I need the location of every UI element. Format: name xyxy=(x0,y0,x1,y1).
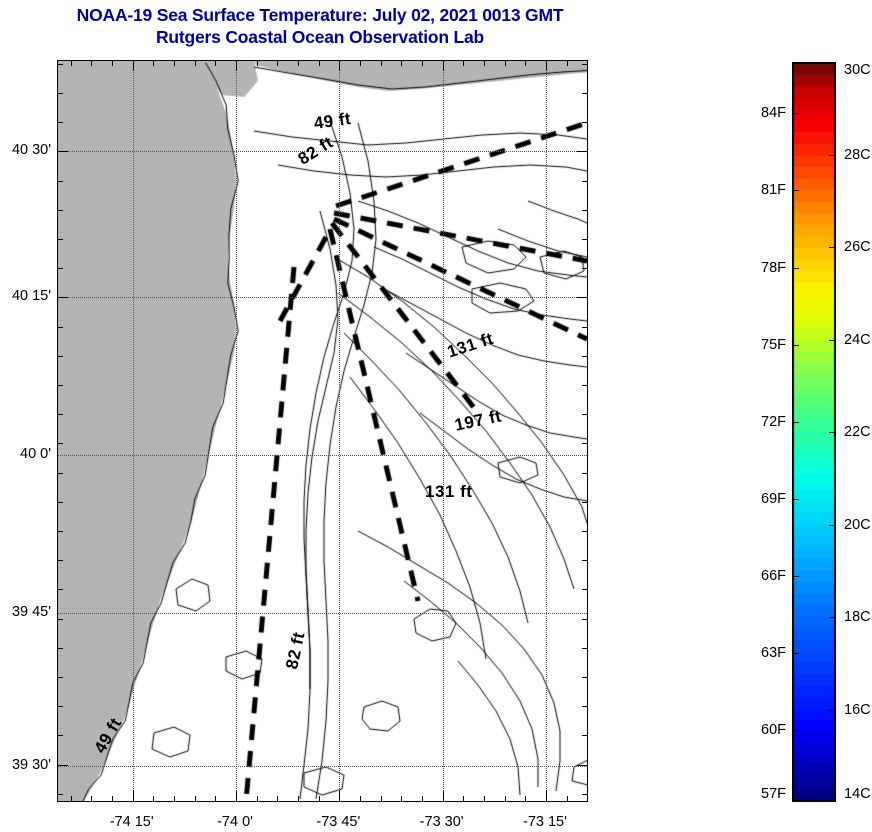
colorbar-tick xyxy=(829,247,836,248)
axis-tick xyxy=(174,796,175,802)
colorbar-fahrenheit-label: 81F xyxy=(761,182,786,198)
axis-tick xyxy=(582,327,588,328)
axis-tick xyxy=(567,60,568,66)
colorbar-tick xyxy=(792,653,799,654)
axis-tick xyxy=(463,60,464,66)
colorbar-tick xyxy=(792,345,799,346)
gridline-horizontal xyxy=(58,613,587,614)
axis-tick xyxy=(582,64,588,65)
axis-tick xyxy=(236,791,237,802)
axis-tick xyxy=(582,794,588,795)
gridline-horizontal xyxy=(58,297,587,298)
colorbar-celsius-label: 22C xyxy=(844,424,871,440)
axis-tick xyxy=(57,502,63,503)
colorbar-fahrenheit-label: 63F xyxy=(761,645,786,661)
colorbar-tick xyxy=(792,422,799,423)
y-axis-tick-label: 40 15' xyxy=(12,288,51,304)
axis-tick xyxy=(401,796,402,802)
colorbar-tick xyxy=(829,617,836,618)
colorbar-tick xyxy=(792,576,799,577)
axis-tick xyxy=(381,60,382,66)
axis-tick xyxy=(57,268,63,269)
colorbar-celsius-label: 14C xyxy=(844,786,871,802)
axis-tick xyxy=(57,794,63,795)
axis-tick xyxy=(582,502,588,503)
axis-tick xyxy=(339,60,340,71)
axis-tick xyxy=(277,60,278,66)
axis-tick xyxy=(577,297,588,298)
colorbar-celsius-label: 16C xyxy=(844,702,871,718)
depth-contour-label: 131 ft xyxy=(425,482,472,502)
axis-tick xyxy=(582,414,588,415)
colorbar-tick xyxy=(792,499,799,500)
axis-tick xyxy=(257,60,258,66)
axis-tick xyxy=(582,677,588,678)
colorbar-fahrenheit-label: 57F xyxy=(761,786,786,802)
axis-tick xyxy=(582,473,588,474)
axis-tick xyxy=(582,619,588,620)
axis-tick xyxy=(443,60,444,71)
colorbar-celsius-label: 18C xyxy=(844,609,871,625)
gridline-horizontal xyxy=(58,766,587,767)
title-line-1: NOAA-19 Sea Surface Temperature: July 02… xyxy=(0,4,640,26)
axis-tick xyxy=(577,151,588,152)
axis-tick xyxy=(153,60,154,66)
axis-tick xyxy=(57,735,63,736)
axis-tick xyxy=(57,677,63,678)
colorbar-fahrenheit-label: 60F xyxy=(761,722,786,738)
page-title: NOAA-19 Sea Surface Temperature: July 02… xyxy=(0,4,640,48)
axis-tick xyxy=(582,443,588,444)
axis-tick xyxy=(57,414,63,415)
axis-tick xyxy=(582,93,588,94)
axis-tick xyxy=(133,791,134,802)
axis-tick xyxy=(153,796,154,802)
axis-tick xyxy=(582,122,588,123)
axis-tick xyxy=(401,60,402,66)
axis-tick xyxy=(57,151,68,152)
x-axis-tick-label: -74 0' xyxy=(217,814,253,830)
gridline-vertical xyxy=(133,61,134,801)
axis-tick xyxy=(91,796,92,802)
colorbar-celsius-label: 26C xyxy=(844,239,871,255)
axis-tick xyxy=(57,589,63,590)
axis-tick xyxy=(582,589,588,590)
axis-tick xyxy=(57,648,63,649)
axis-tick xyxy=(57,356,63,357)
colorbar-tick xyxy=(792,190,799,191)
axis-tick xyxy=(215,60,216,66)
axis-tick xyxy=(582,239,588,240)
colorbar-tick xyxy=(829,525,836,526)
colorbar-celsius-label: 28C xyxy=(844,147,871,163)
colorbar-tick xyxy=(829,710,836,711)
colorbar-fahrenheit-label: 78F xyxy=(761,260,786,276)
axis-tick xyxy=(57,93,63,94)
axis-tick xyxy=(582,735,588,736)
axis-tick xyxy=(71,60,72,66)
axis-tick xyxy=(463,796,464,802)
axis-tick xyxy=(319,796,320,802)
axis-tick xyxy=(215,796,216,802)
axis-tick xyxy=(57,297,68,298)
colorbar-fahrenheit-label: 72F xyxy=(761,414,786,430)
axis-tick xyxy=(360,796,361,802)
axis-tick xyxy=(360,60,361,66)
x-axis-tick-label: -73 15' xyxy=(523,814,567,830)
colorbar-fahrenheit-label: 75F xyxy=(761,337,786,353)
colorbar-tick xyxy=(792,730,799,731)
y-axis-tick-label: 40 0' xyxy=(20,446,51,462)
axis-tick xyxy=(582,560,588,561)
axis-tick xyxy=(582,385,588,386)
axis-tick xyxy=(422,60,423,66)
axis-tick xyxy=(57,327,63,328)
axis-tick xyxy=(582,648,588,649)
axis-tick xyxy=(339,791,340,802)
axis-tick xyxy=(525,796,526,802)
gridline-vertical xyxy=(546,61,547,801)
axis-tick xyxy=(525,60,526,66)
axis-tick xyxy=(319,60,320,66)
colorbar-celsius-label: 24C xyxy=(844,332,871,348)
axis-tick xyxy=(112,60,113,66)
axis-tick xyxy=(57,473,63,474)
axis-tick xyxy=(91,60,92,66)
colorbar-fahrenheit-label: 66F xyxy=(761,568,786,584)
axis-tick xyxy=(257,796,258,802)
axis-tick xyxy=(57,210,63,211)
colorbar-fahrenheit-label: 84F xyxy=(761,105,786,121)
sst-map-canvas xyxy=(58,61,587,801)
axis-tick xyxy=(567,796,568,802)
axis-tick xyxy=(57,443,63,444)
title-line-2: Rutgers Coastal Ocean Observation Lab xyxy=(0,26,640,48)
y-axis-tick-label: 39 30' xyxy=(12,757,51,773)
axis-tick xyxy=(484,60,485,66)
axis-tick xyxy=(57,706,63,707)
x-axis-tick-label: -73 45' xyxy=(316,814,360,830)
axis-tick xyxy=(298,796,299,802)
colorbar-tick xyxy=(829,340,836,341)
axis-tick xyxy=(443,791,444,802)
axis-tick xyxy=(582,268,588,269)
axis-tick xyxy=(582,706,588,707)
axis-tick xyxy=(57,239,63,240)
axis-tick xyxy=(277,796,278,802)
axis-tick xyxy=(195,60,196,66)
x-axis-tick-label: -73 30' xyxy=(420,814,464,830)
axis-tick xyxy=(505,60,506,66)
axis-tick xyxy=(174,60,175,66)
gridline-vertical xyxy=(236,61,237,801)
colorbar-celsius-label: 20C xyxy=(844,517,871,533)
axis-tick xyxy=(57,560,63,561)
axis-tick xyxy=(582,356,588,357)
axis-tick xyxy=(236,60,237,71)
axis-tick xyxy=(546,60,547,71)
axis-tick xyxy=(505,796,506,802)
x-axis-tick-label: -74 15' xyxy=(110,814,154,830)
colorbar-fahrenheit-label: 69F xyxy=(761,491,786,507)
gridline-vertical xyxy=(443,61,444,801)
colorbar-tick xyxy=(792,268,799,269)
gridline-vertical xyxy=(339,61,340,801)
axis-tick xyxy=(422,796,423,802)
axis-tick xyxy=(57,765,68,766)
axis-tick xyxy=(577,765,588,766)
axis-tick xyxy=(57,122,63,123)
colorbar-tick xyxy=(829,432,836,433)
gridline-horizontal xyxy=(58,455,587,456)
colorbar-tick xyxy=(792,113,799,114)
colorbar-tick xyxy=(829,155,836,156)
axis-tick xyxy=(57,64,63,65)
axis-tick xyxy=(57,385,63,386)
sst-map-plot[interactable]: 49 ft82 ft131 ft197 ft131 ft82 ft49 ft xyxy=(57,60,588,802)
axis-tick xyxy=(298,60,299,66)
axis-tick xyxy=(381,796,382,802)
axis-tick xyxy=(195,796,196,802)
axis-tick xyxy=(582,531,588,532)
axis-tick xyxy=(582,181,588,182)
y-axis-tick-label: 40 30' xyxy=(12,142,51,158)
axis-tick xyxy=(71,796,72,802)
axis-tick xyxy=(133,60,134,71)
axis-tick xyxy=(546,791,547,802)
axis-tick xyxy=(582,210,588,211)
axis-tick xyxy=(112,796,113,802)
axis-tick xyxy=(57,181,63,182)
axis-tick xyxy=(57,619,63,620)
y-axis-tick-label: 39 45' xyxy=(12,604,51,620)
colorbar-celsius-label: 30C xyxy=(844,62,871,78)
axis-tick xyxy=(57,531,63,532)
axis-tick xyxy=(484,796,485,802)
temperature-colorbar[interactable]: 30C28C26C24C22C20C18C16C14C84F81F78F75F7… xyxy=(792,62,836,802)
